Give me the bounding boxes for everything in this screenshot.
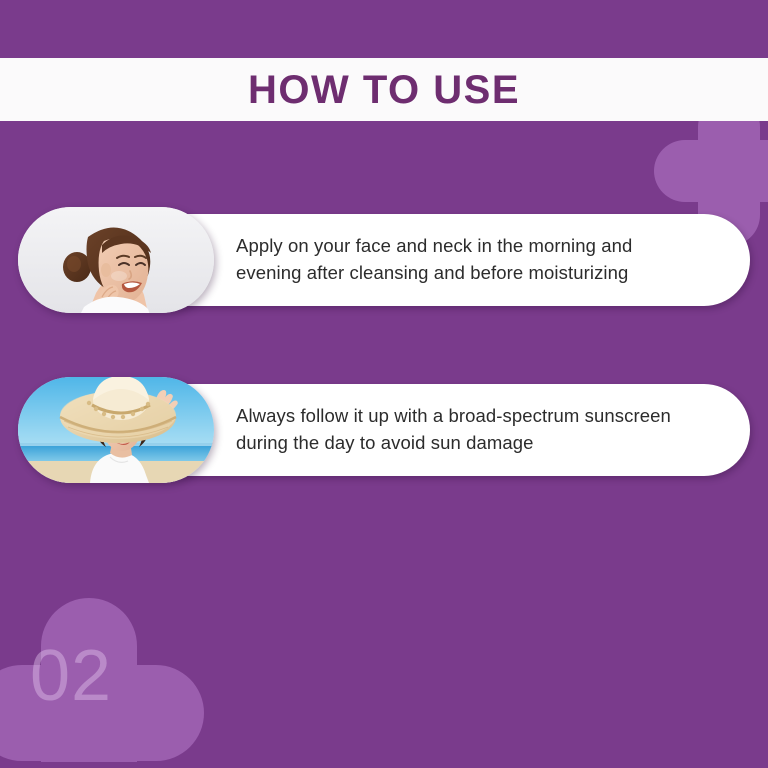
steps-list: Apply on your face and neck in the morni…: [0, 214, 768, 554]
list-item: Apply on your face and neck in the morni…: [0, 214, 768, 306]
step-number-watermark: 02: [30, 640, 112, 712]
cross-bar-horizontal: [0, 665, 204, 761]
cross-shape-bottom-left: [0, 598, 204, 768]
page-title: HOW TO USE: [248, 70, 520, 110]
header-band: HOW TO USE: [0, 58, 768, 121]
step-description: Apply on your face and neck in the morni…: [236, 233, 680, 286]
cross-bar-vertical: [41, 598, 137, 768]
cross-bar-horizontal: [654, 140, 768, 202]
step-thumbnail-image: [18, 377, 214, 483]
smiling-woman-touching-face-illustration: [18, 207, 214, 313]
step-description: Always follow it up with a broad-spectru…: [236, 403, 680, 456]
step-thumbnail-image: [18, 207, 214, 313]
woman-in-sun-hat-at-beach-illustration: [18, 377, 214, 483]
list-item: Always follow it up with a broad-spectru…: [0, 384, 768, 476]
bottom-edge-strip: [0, 762, 768, 768]
